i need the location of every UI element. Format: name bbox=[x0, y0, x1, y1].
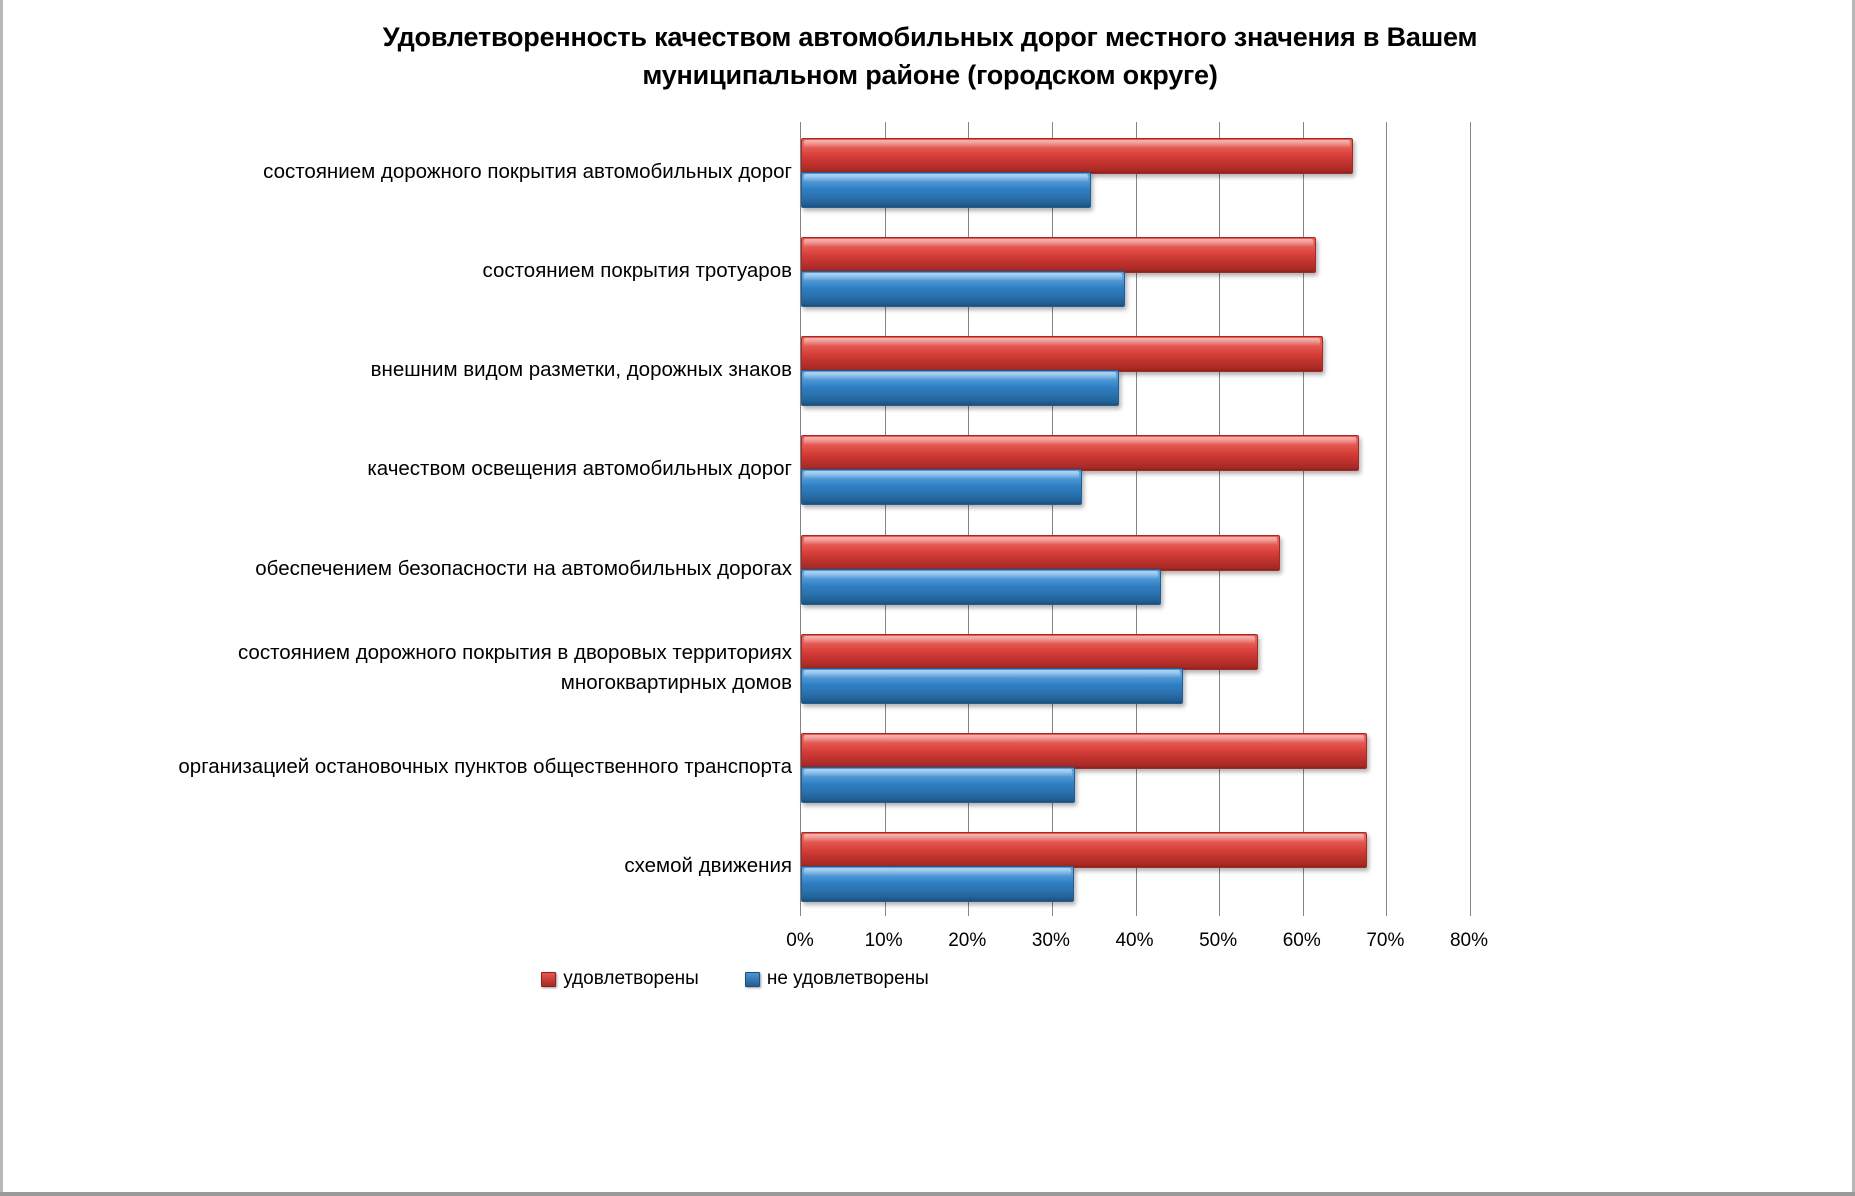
bar-unsatisfied-0 bbox=[801, 172, 1091, 208]
bar-unsatisfied-2 bbox=[801, 370, 1119, 406]
category-label-1: состоянием покрытия тротуаров bbox=[92, 256, 792, 286]
bar-highlight bbox=[804, 868, 1071, 876]
bar-satisfied-5 bbox=[801, 634, 1258, 670]
x-tick-label-10pct: 10% bbox=[865, 930, 903, 952]
category-label-line: схемой движения bbox=[92, 851, 792, 881]
plot-area bbox=[800, 122, 1469, 916]
bar-unsatisfied-1 bbox=[801, 271, 1125, 307]
bar-satisfied-3 bbox=[801, 435, 1359, 471]
bar-highlight bbox=[804, 670, 1180, 678]
bar-highlight bbox=[804, 735, 1364, 743]
bar-satisfied-4 bbox=[801, 535, 1280, 571]
x-tick-label-20pct: 20% bbox=[948, 930, 986, 952]
bar-highlight bbox=[804, 174, 1088, 182]
bar-highlight bbox=[804, 471, 1079, 479]
bar-highlight bbox=[804, 537, 1277, 545]
bar-highlight bbox=[804, 372, 1116, 380]
category-label-7: схемой движения bbox=[92, 851, 792, 881]
frame-left-border bbox=[0, 0, 3, 1196]
legend-item-satisfied[interactable]: удовлетворены bbox=[541, 968, 699, 990]
bar-highlight bbox=[804, 273, 1122, 281]
bar-highlight bbox=[804, 636, 1255, 644]
bar-highlight bbox=[804, 834, 1364, 842]
x-tick-label-70pct: 70% bbox=[1366, 930, 1404, 952]
bar-unsatisfied-3 bbox=[801, 469, 1082, 505]
category-label-line: качеством освещения автомобильных дорог bbox=[92, 454, 792, 484]
bar-unsatisfied-6 bbox=[801, 767, 1075, 803]
category-label-6: организацией остановочных пунктов общест… bbox=[92, 752, 792, 782]
bar-satisfied-0 bbox=[801, 138, 1353, 174]
x-tick-label-40pct: 40% bbox=[1115, 930, 1153, 952]
x-axis-tick-labels: 0%10%20%30%40%50%60%70%80% bbox=[0, 930, 1855, 960]
bar-highlight bbox=[804, 571, 1158, 579]
x-tick-label-80pct: 80% bbox=[1450, 930, 1488, 952]
legend-label: удовлетворены bbox=[563, 968, 699, 990]
bar-satisfied-7 bbox=[801, 832, 1367, 868]
x-tick-label-50pct: 50% bbox=[1199, 930, 1237, 952]
category-label-2: внешним видом разметки, дорожных знаков bbox=[92, 355, 792, 385]
x-tick-label-60pct: 60% bbox=[1283, 930, 1321, 952]
bar-unsatisfied-5 bbox=[801, 668, 1183, 704]
category-label-line: состоянием дорожного покрытия автомобиль… bbox=[92, 157, 792, 187]
chart-title-line-1: Удовлетворенность качеством автомобильны… bbox=[140, 18, 1720, 56]
bar-highlight bbox=[804, 239, 1313, 247]
legend-swatch-blue-icon bbox=[745, 972, 760, 987]
legend-label: не удовлетворены bbox=[767, 968, 929, 990]
gridline-80 bbox=[1470, 122, 1471, 916]
bar-highlight bbox=[804, 769, 1072, 777]
x-tick-label-30pct: 30% bbox=[1032, 930, 1070, 952]
frame-bottom-border bbox=[0, 1192, 1855, 1196]
bar-satisfied-6 bbox=[801, 733, 1367, 769]
chart-legend: удовлетвореныне удовлетворены bbox=[0, 968, 1470, 990]
chart-title-line-2: муниципальном районе (городском округе) bbox=[140, 56, 1720, 94]
category-label-line: состоянием покрытия тротуаров bbox=[92, 256, 792, 286]
legend-item-unsatisfied[interactable]: не удовлетворены bbox=[745, 968, 929, 990]
bar-satisfied-2 bbox=[801, 336, 1323, 372]
category-label-line: многоквартирных домов bbox=[92, 668, 792, 698]
category-label-4: обеспечением безопасности на автомобильн… bbox=[92, 554, 792, 584]
chart-title: Удовлетворенность качеством автомобильны… bbox=[140, 18, 1720, 95]
bar-highlight bbox=[804, 140, 1350, 148]
bar-satisfied-1 bbox=[801, 237, 1316, 273]
bar-unsatisfied-4 bbox=[801, 569, 1161, 605]
category-label-line: организацией остановочных пунктов общест… bbox=[92, 752, 792, 782]
gridline-70 bbox=[1386, 122, 1387, 916]
chart-container: Удовлетворенность качеством автомобильны… bbox=[0, 0, 1855, 1196]
legend-swatch-red-icon bbox=[541, 972, 556, 987]
category-label-0: состоянием дорожного покрытия автомобиль… bbox=[92, 157, 792, 187]
x-tick-label-0pct: 0% bbox=[786, 930, 813, 952]
bar-highlight bbox=[804, 437, 1356, 445]
bar-unsatisfied-7 bbox=[801, 866, 1074, 902]
category-label-5: состоянием дорожного покрытия в дворовых… bbox=[92, 638, 792, 697]
category-label-3: качеством освещения автомобильных дорог bbox=[92, 454, 792, 484]
bar-highlight bbox=[804, 338, 1320, 346]
category-label-line: состоянием дорожного покрытия в дворовых… bbox=[92, 638, 792, 668]
category-label-line: обеспечением безопасности на автомобильн… bbox=[92, 554, 792, 584]
category-label-line: внешним видом разметки, дорожных знаков bbox=[92, 355, 792, 385]
